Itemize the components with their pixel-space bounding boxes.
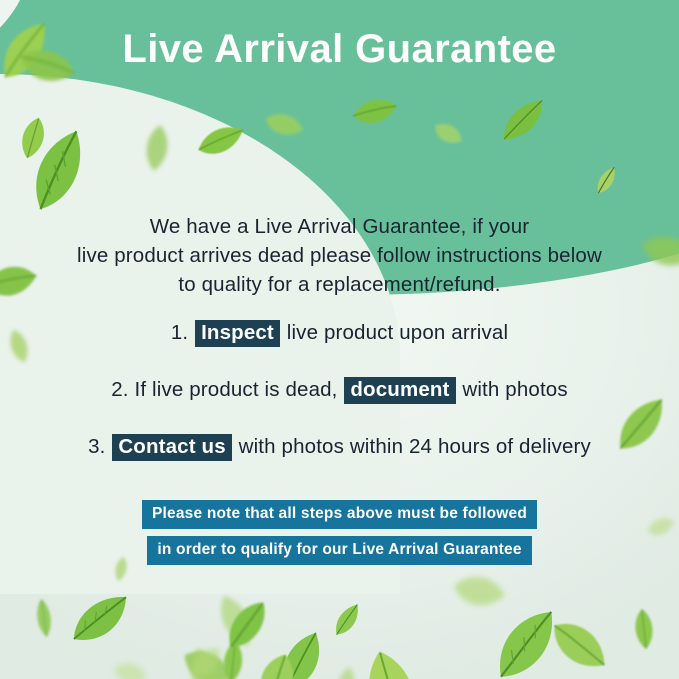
step-item-2: 2. If live product is dead, document wit… [0, 377, 679, 404]
falling-leaf-icon [137, 122, 177, 174]
steps-list: 1. Inspect live product upon arrival 2. … [0, 320, 679, 461]
falling-leaf-icon [265, 625, 342, 679]
step-3-number: 3. [88, 435, 105, 458]
falling-leaf-icon [329, 664, 364, 679]
step-1-number: 1. [171, 321, 188, 344]
note-line-gap [0, 529, 679, 536]
falling-leaf-icon [628, 607, 660, 652]
live-arrival-guarantee-poster: Live Arrival Guarantee [0, 0, 679, 679]
falling-leaf-icon [479, 603, 574, 679]
step-2-number: 2. [111, 378, 128, 401]
falling-leaf-icon [245, 646, 310, 679]
falling-leaf-icon [448, 566, 510, 618]
page-title: Live Arrival Guarantee [0, 29, 679, 69]
falling-leaf-icon [216, 639, 250, 679]
falling-leaf-icon [177, 642, 233, 679]
step-3-highlight[interactable]: Contact us [112, 434, 231, 461]
step-1-highlight[interactable]: Inspect [195, 320, 280, 347]
falling-leaf-icon [108, 654, 152, 679]
note-line-1: Please note that all steps above must be… [142, 500, 537, 529]
note-banner: Please note that all steps above must be… [0, 500, 679, 565]
falling-leaf-icon [493, 96, 555, 149]
step-2-highlight[interactable]: document [344, 377, 455, 404]
falling-leaf-icon [174, 637, 241, 679]
step-3-text-after: with photos within 24 hours of delivery [239, 435, 591, 458]
falling-leaf-icon [350, 92, 401, 132]
step-item-1: 1. Inspect live product upon arrival [0, 320, 679, 347]
intro-line-3: to quality for a replacement/refund. [0, 270, 679, 299]
falling-leaf-icon [213, 589, 281, 661]
falling-leaf-icon [326, 600, 370, 642]
note-line-2: in order to qualify for our Live Arrival… [147, 536, 531, 565]
falling-leaf-icon [588, 163, 625, 199]
falling-leaf-icon [538, 608, 620, 679]
step-1-text-after: live product upon arrival [287, 321, 508, 344]
falling-leaf-icon [205, 586, 266, 656]
falling-leaf-icon [181, 639, 231, 679]
step-item-3: 3. Contact us with photos within 24 hour… [0, 434, 679, 461]
intro-line-2: live product arrives dead please follow … [0, 241, 679, 270]
falling-leaf-icon [10, 125, 107, 217]
intro-paragraph: We have a Live Arrival Guarantee, if you… [0, 212, 679, 299]
step-2-text-after: with photos [462, 378, 567, 401]
step-2-text-before: If live product is dead, [135, 378, 338, 401]
falling-leaf-icon [192, 118, 249, 164]
falling-leaf-icon [349, 641, 432, 679]
falling-leaf-icon [11, 112, 56, 164]
intro-line-1: We have a Live Arrival Guarantee, if you… [0, 212, 679, 241]
falling-leaf-icon [62, 588, 140, 654]
falling-leaf-icon [30, 597, 57, 640]
falling-leaf-icon [428, 115, 468, 153]
falling-leaf-icon [259, 103, 308, 147]
